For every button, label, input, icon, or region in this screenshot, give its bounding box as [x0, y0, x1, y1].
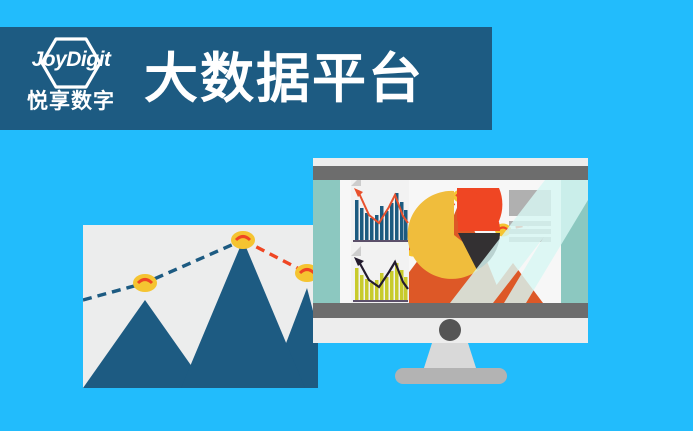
monitor-screen	[313, 176, 588, 303]
left-mountain-chart	[83, 225, 318, 388]
olive-bar-chart-card	[351, 246, 409, 303]
monitor-stand-neck	[423, 343, 477, 371]
brand-logo: JoyDigit 悦享数字	[12, 33, 130, 125]
page-title: 大数据平台	[144, 52, 424, 106]
desktop-monitor	[313, 158, 588, 389]
monitor-base	[395, 368, 507, 384]
illustration-canvas: JoyDigit 悦享数字 大数据平台	[0, 0, 693, 431]
header-banner: JoyDigit 悦享数字 大数据平台	[0, 27, 492, 130]
brand-subtitle: 悦享数字	[12, 91, 130, 112]
blue-bar-chart-card	[351, 176, 409, 247]
monitor-bottom-bar	[313, 303, 588, 318]
brand-wordmark: JoyDigit	[12, 49, 130, 70]
power-button-icon[interactable]	[439, 319, 461, 341]
monitor-top-bar	[313, 166, 588, 180]
